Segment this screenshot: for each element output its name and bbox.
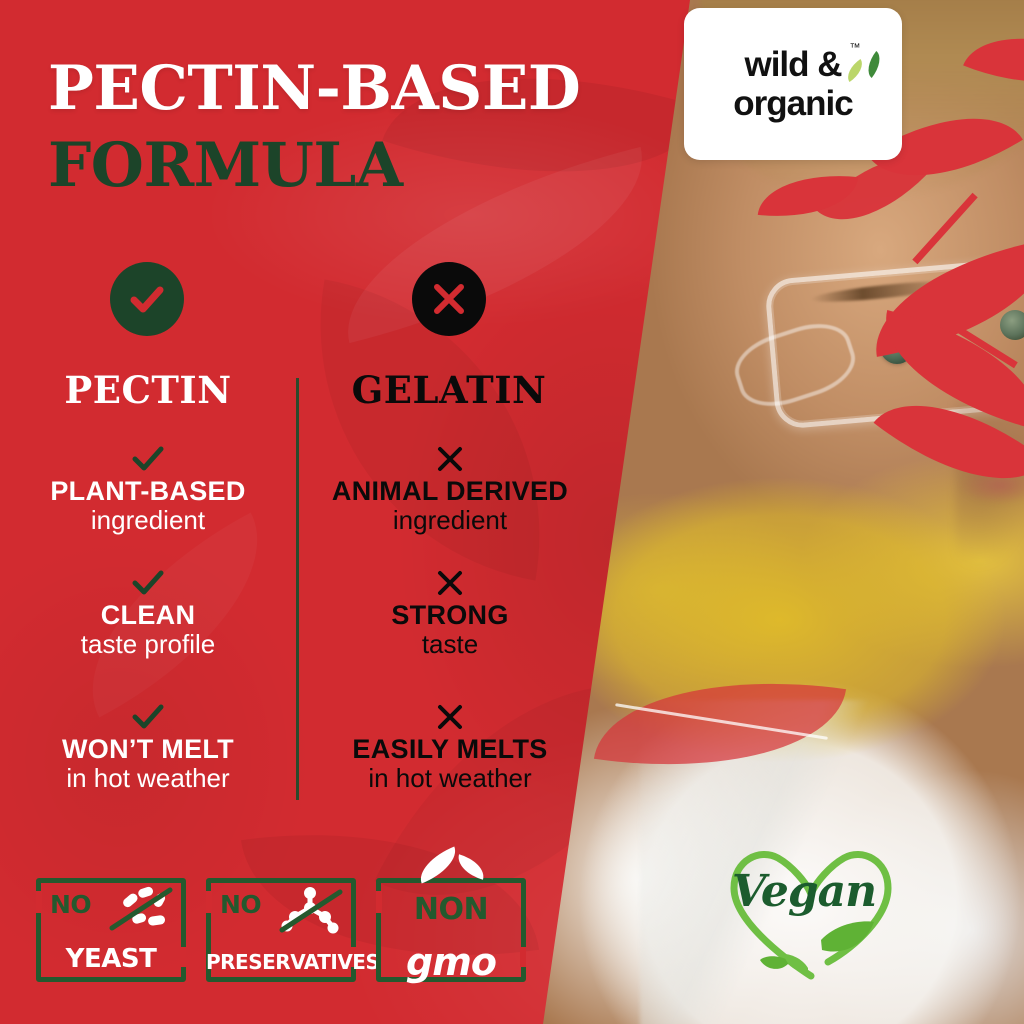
check-icon xyxy=(16,442,280,476)
crossed-out-molecule-icon xyxy=(274,884,346,940)
vegan-badge: Vegan xyxy=(716,836,906,986)
feature-subtitle: ingredient xyxy=(16,506,280,536)
leaf-shape xyxy=(413,847,462,884)
check-icon xyxy=(16,566,280,600)
check-circle-icon xyxy=(110,262,184,336)
crossed-out-yeast-icon xyxy=(104,884,176,940)
feature-title: CLEAN xyxy=(16,600,280,630)
leaf-dark-shape xyxy=(861,51,886,78)
feature-subtitle: ingredient xyxy=(312,506,588,536)
x-icon xyxy=(312,442,588,476)
badge-word: YEAST xyxy=(36,944,186,974)
feature-title: ANIMAL DERIVED xyxy=(312,476,588,506)
leaves-icon xyxy=(416,844,496,886)
logo-line-1: wild & ™ xyxy=(744,47,841,82)
headline-line-1: PECTIN-BASED xyxy=(48,58,580,119)
feature-subtitle: in hot weather xyxy=(16,764,280,794)
feature-title: PLANT-BASED xyxy=(16,476,280,506)
headline-line-2: FORMULA xyxy=(48,135,580,196)
feature-item: STRONG taste xyxy=(312,566,588,660)
vegan-label: Vegan xyxy=(716,866,892,917)
brand-logo[interactable]: wild & ™ organic xyxy=(684,8,902,160)
feature-item: WON’T MELT in hot weather xyxy=(16,700,280,794)
eye-left xyxy=(1000,310,1024,340)
badge-non-gmo: NON gmo xyxy=(376,878,526,982)
feature-item: EASILY MELTS in hot weather xyxy=(312,700,588,794)
badge-no-preservatives: NO PRESERVATIVES xyxy=(206,878,356,982)
leaf-icon xyxy=(844,54,888,94)
column-title-pectin: PECTIN xyxy=(58,368,238,412)
leaf-shape xyxy=(454,854,488,880)
feature-item: CLEAN taste profile xyxy=(16,566,280,660)
feature-title: WON’T MELT xyxy=(16,734,280,764)
badge-prefix: NO xyxy=(50,890,91,919)
feature-title: STRONG xyxy=(312,600,588,630)
trademark-symbol: ™ xyxy=(850,43,860,54)
logo-line-2: organic xyxy=(733,86,852,121)
column-title-gelatin: GELATIN xyxy=(338,368,560,412)
badge-word: PRESERVATIVES xyxy=(206,950,356,974)
badge-word: gmo xyxy=(376,940,526,984)
feature-item: ANIMAL DERIVED ingredient xyxy=(312,442,588,536)
feature-subtitle: taste xyxy=(312,630,588,660)
feature-title: EASILY MELTS xyxy=(312,734,588,764)
feature-item: PLANT-BASED ingredient xyxy=(16,442,280,536)
leaf-light-shape xyxy=(842,59,868,82)
x-icon xyxy=(312,566,588,600)
infographic-canvas: PECTIN-BASED FORMULA wild & ™ organic PE… xyxy=(0,0,1024,1024)
column-divider xyxy=(296,378,299,800)
badge-prefix: NO xyxy=(220,890,261,919)
badge-prefix: NON xyxy=(376,892,526,927)
x-circle-icon xyxy=(412,262,486,336)
logo-text-wild: wild & xyxy=(744,45,841,84)
feature-subtitle: in hot weather xyxy=(312,764,588,794)
check-icon xyxy=(16,700,280,734)
feature-subtitle: taste profile xyxy=(16,630,280,660)
badge-no-yeast: NO YEAST xyxy=(36,878,186,982)
page-title: PECTIN-BASED FORMULA xyxy=(48,58,580,196)
x-icon xyxy=(312,700,588,734)
